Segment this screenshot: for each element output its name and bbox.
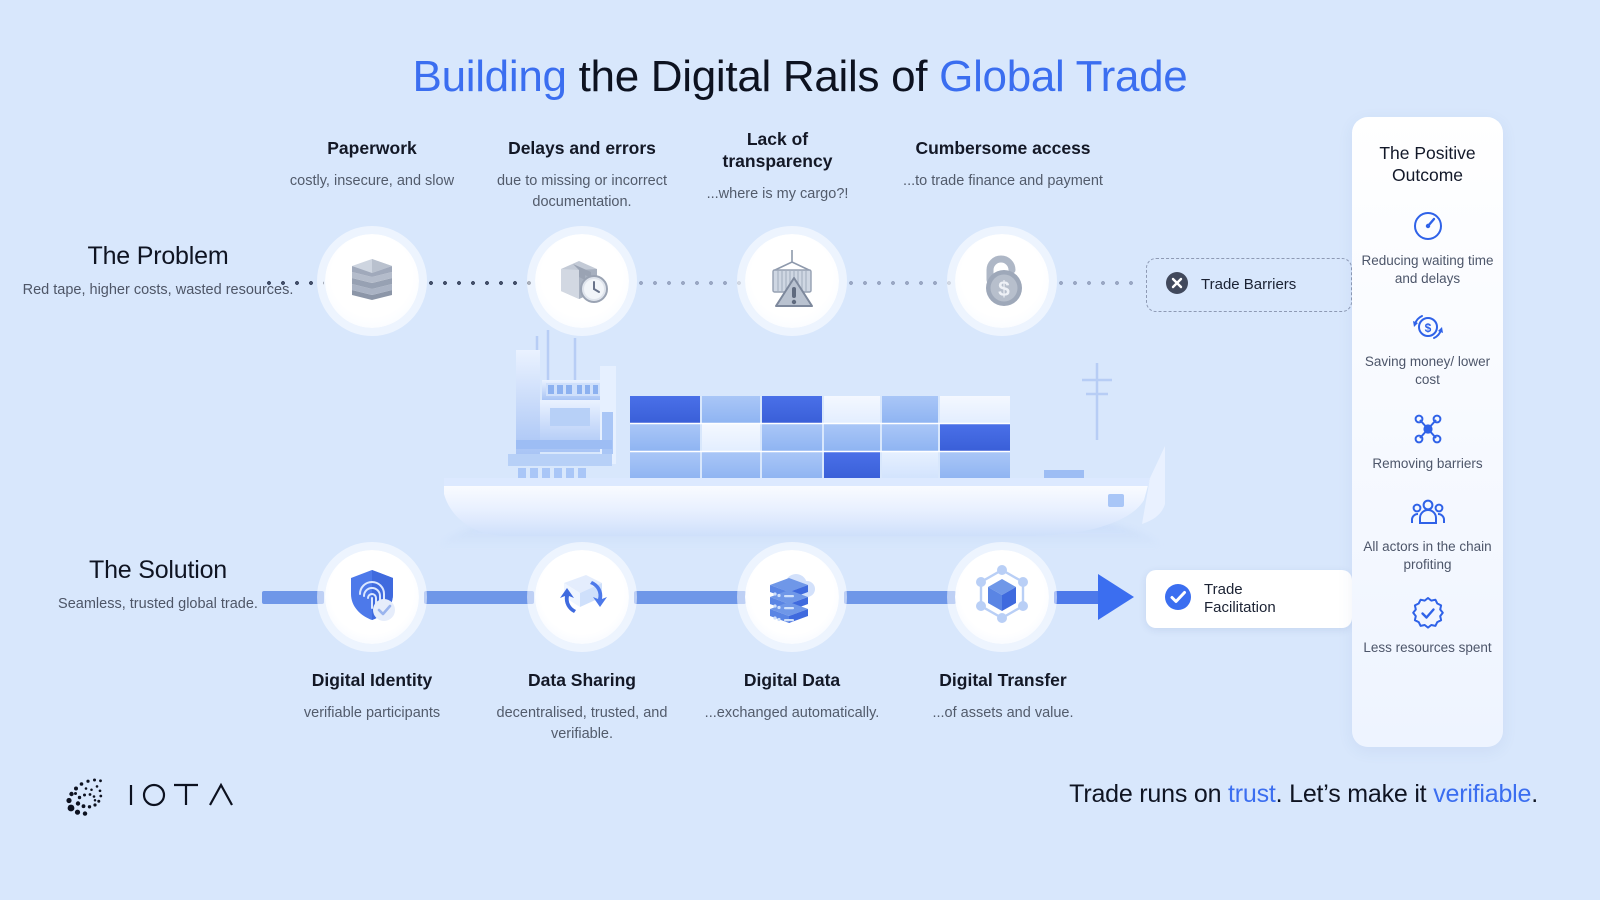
infographic-canvas: Building the Digital Rails of Global Tra…	[0, 0, 1600, 900]
heading-text: Data Sharing	[467, 670, 697, 692]
title-middle: the Digital Rails of	[567, 52, 939, 101]
heading-text: Digital Identity	[257, 670, 487, 692]
trade-facilitation-label: Trade Facilitation	[1204, 581, 1276, 617]
outcome-label: Saving money/ lower cost	[1360, 353, 1495, 389]
solution-column-heading-digital-transfer: Digital Transfer ...of assets and value.	[888, 670, 1118, 724]
problem-icon-bubble-delays	[535, 234, 629, 328]
dollar-refresh-icon: $	[1360, 308, 1495, 346]
outcome-item-reducing-waiting-time: Reducing waiting time and delays	[1352, 207, 1503, 288]
solution-icon-bubble-data-sharing	[535, 550, 629, 644]
outcome-label: All actors in the chain profiting	[1360, 538, 1495, 574]
page-title: Building the Digital Rails of Global Tra…	[0, 52, 1600, 102]
unlocked-padlock-dollar-icon: $	[974, 250, 1030, 313]
iota-wordmark	[126, 780, 246, 817]
tagline-part-2: . Let’s make it	[1276, 780, 1434, 808]
outcome-item-all-actors-profiting: All actors in the chain profiting	[1352, 493, 1503, 574]
row-description: Red tape, higher costs, wasted resources…	[18, 280, 298, 301]
sub-text: ...of assets and value.	[888, 703, 1118, 724]
solution-rail-2	[634, 591, 746, 604]
problem-icon-bubble-transparency	[745, 234, 839, 328]
solution-column-heading-data-sharing: Data Sharing decentralised, trusted, and…	[467, 670, 697, 745]
problem-icon-bubble-access: $	[955, 234, 1049, 328]
heading-text: Cumbersome access	[888, 138, 1118, 160]
sub-text: ...exchanged automatically.	[677, 703, 907, 724]
solution-column-heading-digital-data: Digital Data ...exchanged automatically.	[677, 670, 907, 724]
outcome-item-removing-barriers: Removing barriers	[1352, 410, 1503, 473]
heading-text: Lack of transparency	[690, 129, 865, 173]
positive-outcome-panel: The Positive Outcome Reducing waiting ti…	[1352, 117, 1503, 747]
outcome-item-less-resources-spent: Less resources spent	[1352, 594, 1503, 657]
facilitation-line-2: Facilitation	[1204, 599, 1276, 616]
solution-rail-arrowhead	[1098, 574, 1134, 620]
trade-barriers-badge[interactable]: Trade Barriers	[1146, 258, 1352, 312]
sub-text: due to missing or incorrect documentatio…	[467, 171, 697, 213]
panel-title: The Positive Outcome	[1352, 117, 1503, 187]
verified-badge-icon	[1360, 594, 1495, 632]
box-clock-icon	[553, 251, 611, 312]
circle-x-icon	[1165, 271, 1189, 300]
heading-text: Digital Data	[677, 670, 907, 692]
outcome-label: Less resources spent	[1360, 639, 1495, 657]
outcome-item-saving-money: $ Saving money/ lower cost	[1352, 308, 1503, 389]
solution-icon-bubble-identity	[325, 550, 419, 644]
solution-rail-3	[844, 591, 956, 604]
network-cube-icon	[972, 565, 1032, 630]
sub-text: verifiable participants	[257, 703, 487, 724]
problem-connector-1	[424, 281, 534, 285]
trade-barriers-label: Trade Barriers	[1201, 276, 1296, 294]
speedometer-icon	[1360, 207, 1495, 245]
footer-tagline: Trade runs on trust. Let’s make it verif…	[1069, 780, 1538, 809]
document-exchange-icon	[552, 567, 612, 628]
solution-icon-bubble-digital-transfer	[955, 550, 1049, 644]
sub-text: ...to trade finance and payment	[888, 171, 1118, 192]
solution-row-label: The Solution Seamless, trusted global tr…	[18, 556, 298, 615]
heading-text: Paperwork	[257, 138, 487, 160]
outcome-label: Reducing waiting time and delays	[1360, 252, 1495, 288]
solution-icon-bubble-digital-data	[745, 550, 839, 644]
problem-column-heading-delays: Delays and errors due to missing or inco…	[467, 138, 697, 213]
paper-stack-icon	[344, 251, 400, 312]
row-title: The Solution	[18, 556, 298, 585]
title-accent-1: Building	[413, 52, 567, 101]
iota-swirl-icon	[62, 772, 110, 825]
problem-row-label: The Problem Red tape, higher costs, wast…	[18, 242, 298, 301]
svg-text:$: $	[1424, 321, 1431, 335]
solution-column-heading-identity: Digital Identity verifiable participants	[257, 670, 487, 724]
heading-text: Delays and errors	[467, 138, 697, 160]
tagline-part-3: .	[1531, 780, 1538, 808]
problem-connector-4	[1054, 281, 1142, 285]
problem-column-heading-access: Cumbersome access ...to trade finance an…	[888, 138, 1118, 192]
sub-text: costly, insecure, and slow	[257, 171, 487, 192]
row-title: The Problem	[18, 242, 298, 271]
solution-rail-1	[424, 591, 534, 604]
server-cloud-icon	[762, 567, 822, 628]
people-group-icon	[1360, 493, 1495, 531]
problem-connector-2	[634, 281, 746, 285]
solution-panel-connector	[1320, 596, 1356, 602]
container-ship-illustration	[430, 328, 1170, 548]
shield-fingerprint-icon	[343, 566, 401, 629]
title-accent-2: Global Trade	[939, 52, 1187, 101]
svg-text:$: $	[998, 278, 1010, 301]
tagline-accent-verifiable: verifiable	[1433, 780, 1531, 808]
sub-text: decentralised, trusted, and verifiable.	[467, 703, 697, 745]
facilitation-line-1: Trade	[1204, 581, 1243, 598]
problem-connector-3	[844, 281, 956, 285]
outcome-label: Removing barriers	[1360, 455, 1495, 473]
problem-column-heading-transparency: Lack of transparency ...where is my carg…	[690, 129, 865, 205]
tagline-part-1: Trade runs on	[1069, 780, 1228, 808]
problem-column-heading-paperwork: Paperwork costly, insecure, and slow	[257, 138, 487, 192]
heading-text: Digital Transfer	[888, 670, 1118, 692]
circle-check-icon	[1164, 583, 1192, 616]
tagline-accent-trust: trust	[1228, 780, 1276, 808]
iota-logo[interactable]	[62, 772, 246, 825]
row-description: Seamless, trusted global trade.	[18, 594, 298, 615]
problem-icon-bubble-paperwork	[325, 234, 419, 328]
sub-text: ...where is my cargo?!	[690, 184, 865, 205]
container-warning-icon	[761, 248, 823, 315]
network-nodes-icon	[1360, 410, 1495, 448]
problem-connector-0	[262, 281, 324, 285]
